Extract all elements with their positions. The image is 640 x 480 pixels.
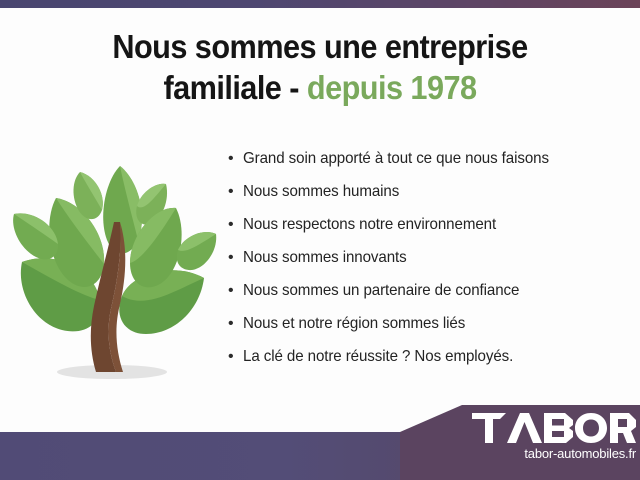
bullet-icon: • bbox=[228, 280, 243, 302]
list-item: • Nous respectons notre environnement bbox=[228, 214, 632, 247]
bullet-icon: • bbox=[228, 181, 243, 203]
list-item-label: Nous sommes un partenaire de confiance bbox=[243, 280, 620, 302]
list-item: • La clé de notre réussite ? Nos employé… bbox=[228, 346, 632, 379]
tree-illustration-svg bbox=[8, 150, 224, 395]
benefits-list: • Grand soin apporté à tout ce que nous … bbox=[228, 148, 632, 379]
bullet-icon: • bbox=[228, 214, 243, 236]
bullet-icon: • bbox=[228, 313, 243, 335]
bullet-icon: • bbox=[228, 148, 243, 170]
headline-line-2-prefix: familiale - bbox=[163, 69, 306, 106]
page-title: Nous sommes une entreprise familiale - d… bbox=[22, 26, 617, 108]
tree-illustration bbox=[8, 150, 224, 395]
tabor-wordmark-icon bbox=[472, 413, 636, 443]
list-item-label: La clé de notre réussite ? Nos employés. bbox=[243, 346, 620, 368]
headline-line-2: familiale - depuis 1978 bbox=[22, 67, 617, 108]
list-item-label: Nous et notre région sommes liés bbox=[243, 313, 620, 335]
headline-accent-since-1978: depuis 1978 bbox=[307, 69, 477, 106]
headline-line-1: Nous sommes une entreprise bbox=[112, 28, 527, 65]
list-item-label: Grand soin apporté à tout ce que nous fa… bbox=[243, 148, 620, 170]
slide-canvas: Nous sommes une entreprise familiale - d… bbox=[0, 0, 640, 480]
list-item-label: Nous sommes innovants bbox=[243, 247, 620, 269]
tabor-wordmark-svg bbox=[472, 413, 636, 443]
list-item: • Nous sommes un partenaire de confiance bbox=[228, 280, 632, 313]
list-item: • Nous sommes humains bbox=[228, 181, 632, 214]
brand-logo[interactable]: tabor-automobiles.fr bbox=[472, 413, 636, 462]
list-item: • Nous sommes innovants bbox=[228, 247, 632, 280]
list-item: • Nous et notre région sommes liés bbox=[228, 313, 632, 346]
list-item-label: Nous respectons notre environnement bbox=[243, 214, 620, 236]
list-item: • Grand soin apporté à tout ce que nous … bbox=[228, 148, 632, 181]
top-accent-bar bbox=[0, 0, 640, 8]
bullet-icon: • bbox=[228, 346, 243, 368]
brand-logo-panel[interactable]: tabor-automobiles.fr bbox=[400, 405, 640, 480]
bullet-icon: • bbox=[228, 247, 243, 269]
list-item-label: Nous sommes humains bbox=[243, 181, 620, 203]
brand-tagline: tabor-automobiles.fr bbox=[472, 446, 636, 462]
